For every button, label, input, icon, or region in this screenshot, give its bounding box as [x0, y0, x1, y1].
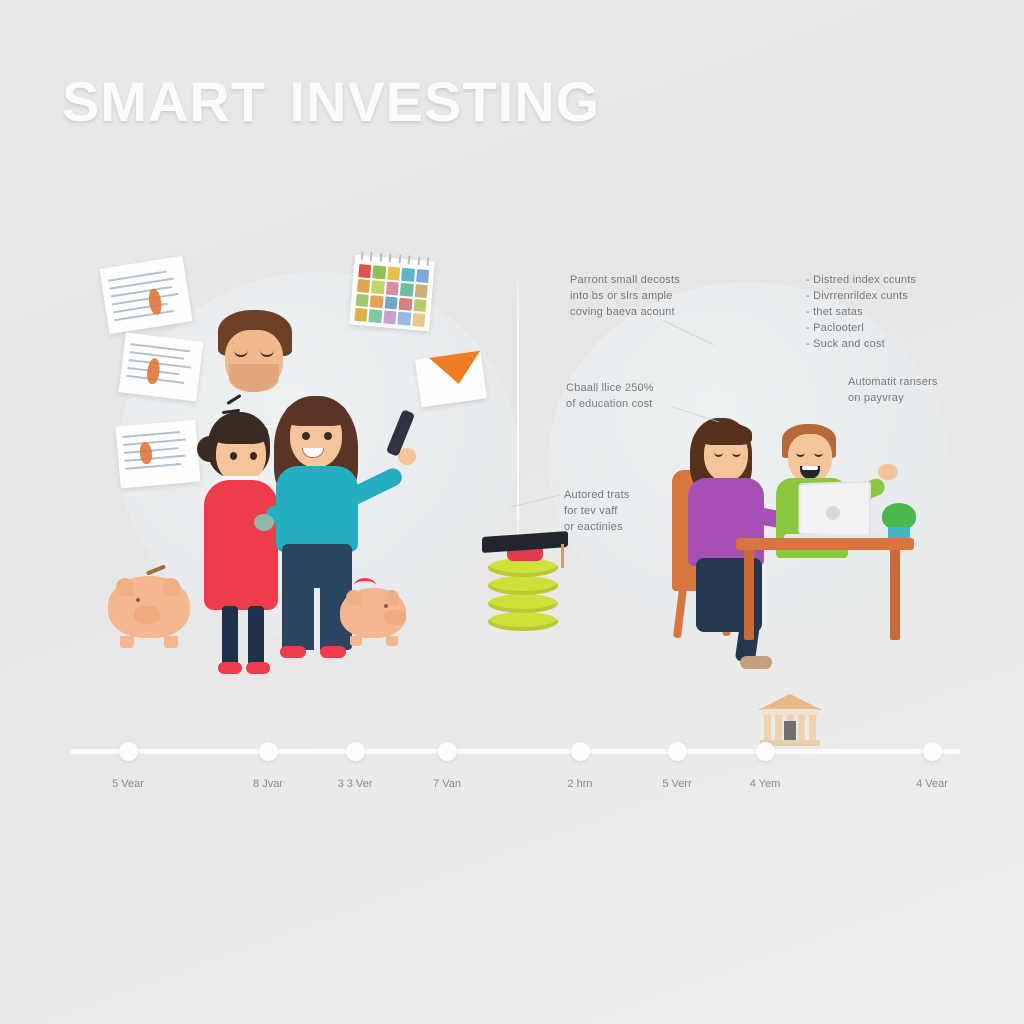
coin-stack-icon: [488, 556, 558, 632]
calendar-cell: [383, 311, 396, 325]
calendar-cell: [357, 279, 370, 293]
calendar-cell: [369, 309, 382, 323]
timeline-label-7: 4 Yem: [737, 778, 793, 790]
calendar-cell: [371, 280, 384, 294]
floating-mans-head: [218, 310, 292, 400]
calendar-cell: [401, 268, 414, 282]
calendar-cell: [387, 267, 400, 281]
calendar-cell: [414, 284, 427, 298]
calendar-cell: [400, 283, 413, 297]
piggy-bank-icon: [340, 578, 410, 640]
laptop-icon: [790, 482, 876, 544]
envelope-flap: [429, 351, 485, 388]
calendar-grid: [354, 264, 429, 327]
timeline-label-1: 5 Vear: [100, 778, 156, 790]
timeline-dot-4[interactable]: [438, 742, 457, 761]
timeline-dot-2[interactable]: [259, 742, 278, 761]
graduation-cap-icon: [482, 534, 568, 566]
timeline-dot-3[interactable]: [346, 742, 365, 761]
table-icon: [736, 538, 914, 640]
calendar-cell: [358, 264, 371, 278]
calendar-cell: [399, 297, 412, 311]
calendar-cell: [413, 298, 426, 312]
calendar-rings: [361, 251, 429, 265]
timeline-label-6: 5 Verr: [649, 778, 705, 790]
timeline-dot-1[interactable]: [119, 742, 138, 761]
calendar-cell: [386, 281, 399, 295]
timeline-label-8: 4 Vear: [904, 778, 960, 790]
timeline-label-4: 7 Van: [419, 778, 475, 790]
document-card-icon: [115, 420, 200, 489]
automatic-transfers-note: Automatit ransers on payvray: [848, 374, 938, 406]
years-timeline: 5 Vear8 Jvar3 3 Ver7 Van2 hrn5 Verr4 Yem…: [0, 740, 1024, 830]
calendar-cell: [354, 308, 367, 322]
document-card-icon: [99, 256, 192, 334]
timeline-dot-5[interactable]: [571, 742, 590, 761]
piggy-bank-icon: [108, 566, 194, 642]
calendar-cell: [416, 269, 429, 283]
timeline-label-5: 2 hrn: [552, 778, 608, 790]
account-types-list: Distred index ccunts Divrrenrildex cunts…: [806, 272, 916, 352]
page-title: Smart Investing: [62, 48, 962, 140]
calendar-cell: [373, 265, 386, 279]
timeline-dot-8[interactable]: [923, 742, 942, 761]
calendar-cell: [370, 295, 383, 309]
smart-investing-infographic: Smart Investing: [0, 0, 1024, 1024]
calendar-cell: [397, 312, 410, 326]
calendar-icon: [349, 255, 435, 332]
envelope-icon: [415, 351, 487, 408]
parent-deposits-note: Parront small decosts into bs or slrs am…: [570, 272, 680, 320]
document-card-icon: [119, 332, 204, 401]
calendar-cell: [384, 296, 397, 310]
allocation-note: Autored trats for tev vaff or eactinies: [564, 487, 630, 535]
timeline-dot-7[interactable]: [756, 742, 775, 761]
scene-divider: [517, 270, 519, 560]
timeline-label-3: 3 3 Ver: [327, 778, 383, 790]
calendar-cell: [356, 293, 369, 307]
calendar-cell: [412, 313, 425, 327]
education-cost-goal-note: Cbaall llice 250% of education cost: [566, 380, 654, 412]
timeline-label-2: 8 Jvar: [240, 778, 296, 790]
timeline-dot-6[interactable]: [668, 742, 687, 761]
timeline-rail: [70, 749, 960, 754]
